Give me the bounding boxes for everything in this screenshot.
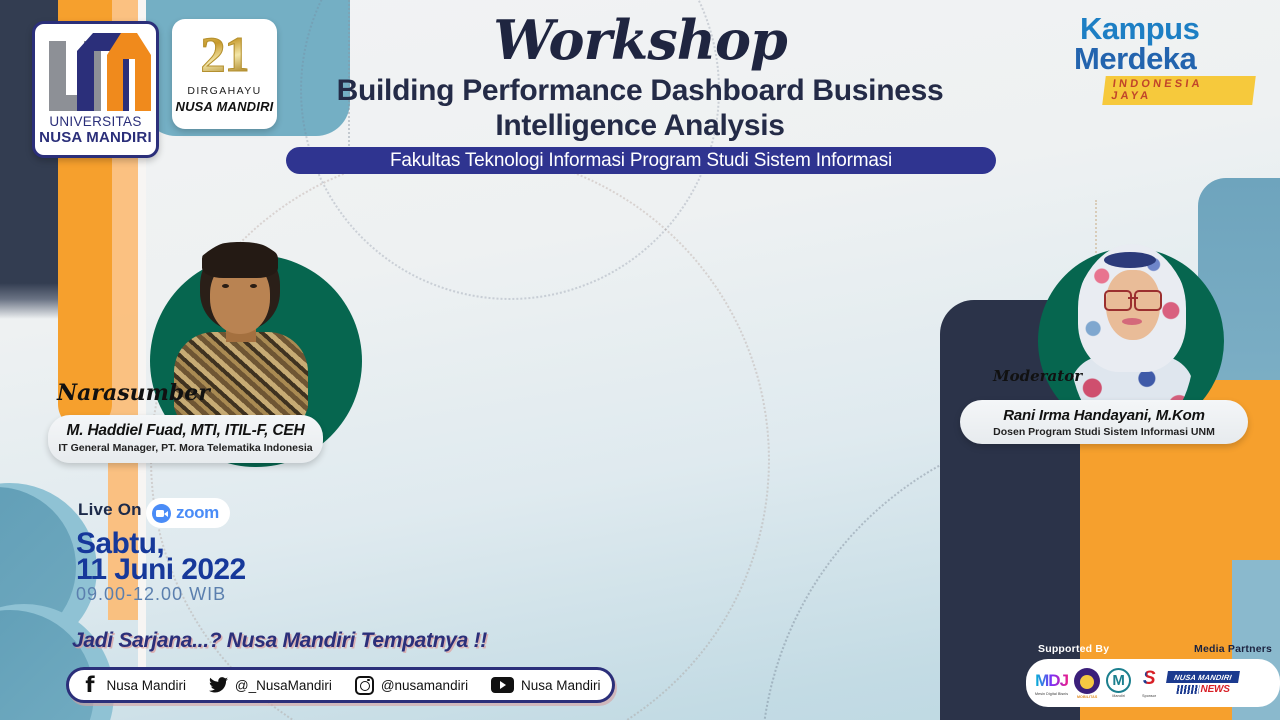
zoom-wordmark: zoom xyxy=(176,503,219,523)
media-partner-nusa-mandiri-news: NUSA MANDIRI NEWS xyxy=(1167,671,1239,695)
live-on-label: Live On xyxy=(78,500,142,520)
moderator-name-card: Rani Irma Handayani, M.Kom Dosen Program… xyxy=(960,400,1248,444)
sponsor-mobilitas-icon xyxy=(1074,668,1100,694)
sponsor-logo-m: M Mandiri xyxy=(1106,668,1131,698)
page-title: Building Performance Dashboard Business … xyxy=(300,74,980,144)
sponsor-m-sub: Mandiri xyxy=(1106,694,1131,698)
nm-news-top: NUSA MANDIRI xyxy=(1166,671,1240,683)
title-line-2: Intelligence Analysis xyxy=(300,109,980,144)
title-line-1: Building Performance Dashboard Business xyxy=(300,74,980,109)
sponsor-m-icon: M xyxy=(1106,668,1131,693)
social-item-instagram[interactable]: @nusamandiri xyxy=(355,676,468,695)
nm-news-stripe-icon xyxy=(1176,685,1199,694)
social-item-facebook[interactable]: f Nusa Mandiri xyxy=(80,676,186,695)
social-item-twitter[interactable]: @_NusaMandiri xyxy=(209,676,332,695)
sponsor-mdj-name: MDJ xyxy=(1035,671,1068,691)
sponsor-s-sub: Sponsor xyxy=(1137,694,1161,698)
sponsor-s-icon: S xyxy=(1137,668,1161,693)
nm-news-bottom: NEWS xyxy=(1201,684,1230,695)
anniversary-line1: DIRGAHAYU xyxy=(172,85,277,97)
youtube-handle: Nusa Mandiri xyxy=(521,678,601,693)
unm-logo-line2: NUSA MANDIRI xyxy=(35,129,156,146)
sponsor-logo-mobilitas: MOBILITAS xyxy=(1074,668,1100,699)
faculty-pill: Fakultas Teknologi Informasi Program Stu… xyxy=(286,147,996,174)
supported-by-label: Supported By xyxy=(1038,643,1109,655)
anniversary-line2: NUSA MANDIRI xyxy=(172,99,277,114)
speaker-title: IT General Manager, PT. Mora Telematika … xyxy=(48,442,323,454)
twitter-handle: @_NusaMandiri xyxy=(235,678,332,693)
social-media-bar: f Nusa Mandiri @_NusaMandiri @nusamandir… xyxy=(66,667,615,703)
facebook-icon: f xyxy=(80,676,99,695)
workshop-script-label: Workshop xyxy=(0,8,1280,72)
zoom-camera-icon xyxy=(152,504,171,523)
sponsor-logo-s: S Sponsor xyxy=(1137,668,1161,698)
sponsor-mdj-sub: Mesin Digital Bisnis xyxy=(1035,692,1068,696)
social-item-youtube[interactable]: Nusa Mandiri xyxy=(491,677,601,693)
moderator-name: Rani Irma Handayani, M.Kom xyxy=(960,407,1248,424)
media-partners-label: Media Partners xyxy=(1194,643,1272,655)
twitter-icon xyxy=(209,676,228,695)
moderator-role-label: Moderator xyxy=(993,367,1082,385)
poster-canvas: UNIVERSITAS NUSA MANDIRI 21 DIRGAHAYU NU… xyxy=(0,0,1280,720)
facebook-handle: Nusa Mandiri xyxy=(106,678,186,693)
unm-logo-line1: UNIVERSITAS xyxy=(35,114,156,129)
moderator-title: Dosen Program Studi Sistem Informasi UNM xyxy=(960,426,1248,438)
sponsor-mobilitas-sub: MOBILITAS xyxy=(1074,695,1100,699)
event-time: 09.00-12.00 WIB xyxy=(76,584,226,605)
sponsor-logo-bar: MDJ Mesin Digital Bisnis MOBILITAS M Man… xyxy=(1026,659,1280,707)
zoom-platform-badge: zoom xyxy=(146,498,230,528)
speaker-name: M. Haddiel Fuad, MTI, ITIL-F, CEH xyxy=(48,422,323,440)
slogan-text: Jadi Sarjana...? Nusa Mandiri Tempatnya … xyxy=(72,629,487,653)
instagram-handle: @nusamandiri xyxy=(381,678,468,693)
speaker-name-card: M. Haddiel Fuad, MTI, ITIL-F, CEH IT Gen… xyxy=(48,415,323,463)
kampus-merdeka-ribbon: INDONESIA JAYA xyxy=(1102,76,1256,105)
instagram-icon xyxy=(355,676,374,695)
speaker-role-label: Narasumber xyxy=(57,380,210,406)
sponsor-logo-mdj: MDJ Mesin Digital Bisnis xyxy=(1035,671,1068,696)
youtube-icon xyxy=(491,677,514,693)
event-date: 11 Juni 2022 xyxy=(76,553,246,587)
